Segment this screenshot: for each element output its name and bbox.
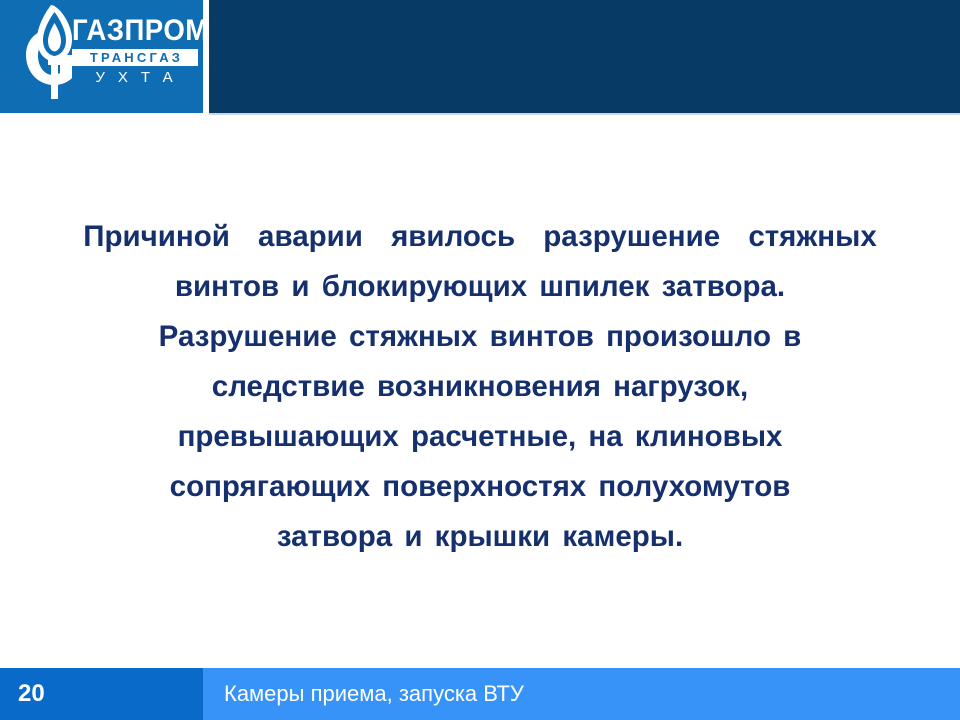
body-line-2: винтов и блокирующих шпилек затвора. (30, 262, 930, 312)
logo-city-text: УХТА (72, 69, 198, 87)
gazprom-logo-block: ГАЗПРОМ ТРАНСГАЗ УХТА (0, 0, 203, 113)
gazprom-wordmark: ГАЗПРОМ ТРАНСГАЗ УХТА (72, 16, 203, 87)
body-line-6: сопрягающих поверхностях полухомутов (30, 462, 930, 512)
slide: ГАЗПРОМ ТРАНСГАЗ УХТА Причиной аварии яв… (0, 0, 960, 720)
slide-footer: 20 Камеры приема, запуска ВТУ (0, 668, 960, 720)
logo-division-text: ТРАНСГАЗ (72, 49, 198, 66)
slide-header: ГАЗПРОМ ТРАНСГАЗ УХТА (0, 0, 960, 114)
body-line-3: Разрушение стяжных винтов произошло в (30, 312, 930, 362)
header-divider-line (209, 113, 960, 115)
slide-content: Причиной аварии явилось разрушение стяжн… (30, 212, 930, 562)
body-line-5: превышающих расчетные, на клиновых (30, 412, 930, 462)
body-line-1: Причиной аварии явилось разрушение стяжн… (30, 212, 930, 262)
gazprom-flame-g-icon (8, 3, 80, 107)
body-line-4: следствие возникновения нагрузок, (30, 362, 930, 412)
body-paragraph: Причиной аварии явилось разрушение стяжн… (30, 212, 930, 562)
footer-number-block: 20 (0, 668, 203, 720)
body-line-7: затвора и крышки камеры. (30, 512, 930, 562)
footer-title: Камеры приема, запуска ВТУ (224, 680, 524, 708)
logo-brand-text: ГАЗПРОМ (72, 16, 193, 46)
header-navy-bar (209, 0, 960, 113)
slide-number: 20 (18, 680, 45, 708)
